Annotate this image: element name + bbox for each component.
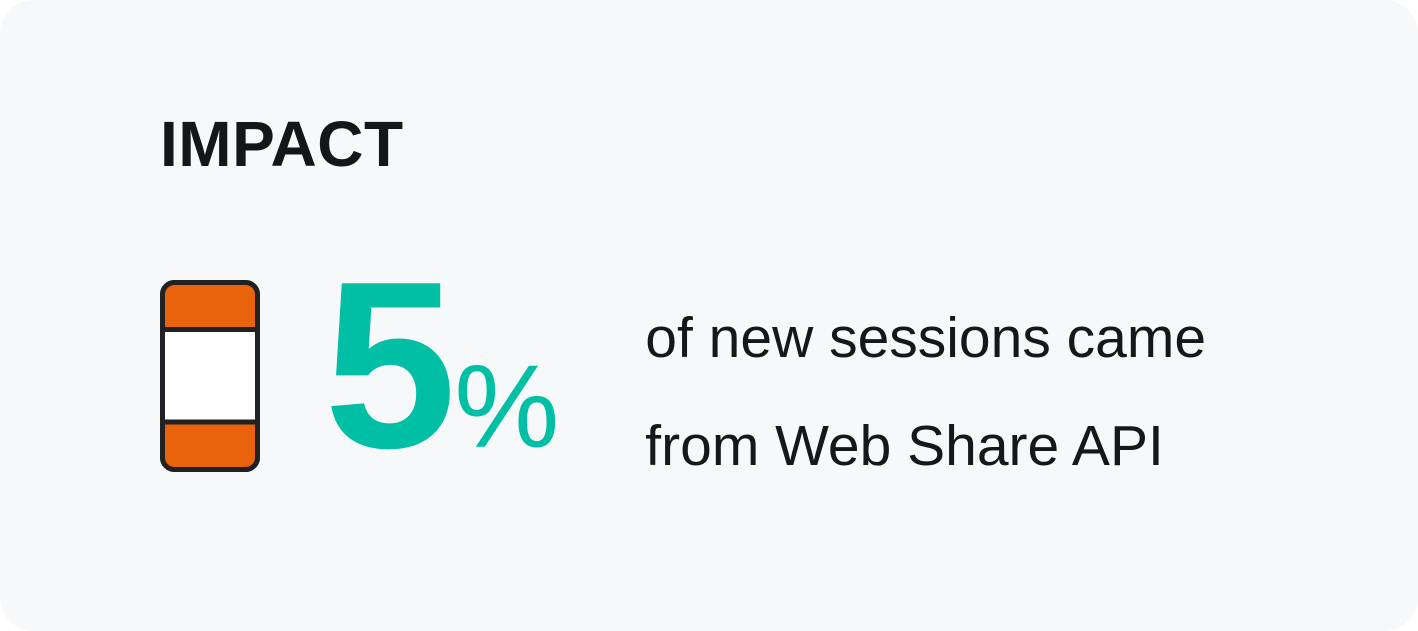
impact-stat-card: IMPACT 5 % of new sessions came — [0, 0, 1418, 631]
stat-value: 5 — [324, 276, 450, 457]
stat-figure: 5 % — [324, 276, 559, 457]
stat-description: of new sessions came from Web Share API — [645, 284, 1206, 500]
page-title: IMPACT — [160, 112, 404, 176]
stat-row: 5 % of new sessions came from Web Share … — [160, 276, 1206, 500]
stat-description-line-1: of new sessions came — [645, 284, 1206, 392]
stat-description-line-2: from Web Share API — [645, 392, 1206, 500]
mobile-phone-icon — [160, 280, 260, 472]
stat-unit: % — [454, 363, 559, 453]
